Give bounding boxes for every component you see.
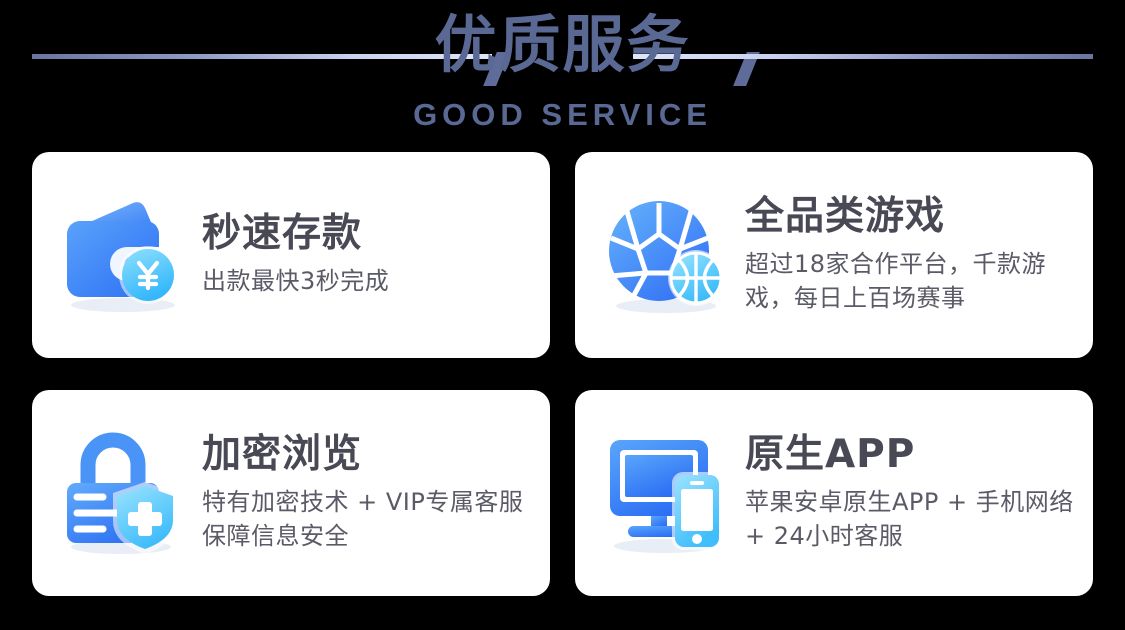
card-description: 出款最快3秒完成 (202, 264, 389, 298)
card-text-block: 全品类游戏 超过18家合作平台，千款游戏，每日上百场赛事 (737, 195, 1077, 315)
feature-card-deposit[interactable]: 秒速存款 出款最快3秒完成 (32, 152, 550, 358)
card-text-block: 秒速存款 出款最快3秒完成 (194, 212, 389, 298)
card-title: 秒速存款 (202, 212, 389, 257)
page-header: 优质服务 GOOD SERVICE (0, 0, 1125, 148)
card-description: 苹果安卓原生APP + 手机网络 + 24小时客服 (745, 485, 1077, 553)
feature-card-games[interactable]: 全品类游戏 超过18家合作平台，千款游戏，每日上百场赛事 (575, 152, 1093, 358)
page-title: 优质服务 (0, 8, 1125, 82)
lock-shield-icon (58, 425, 194, 561)
feature-card-grid: 秒速存款 出款最快3秒完成 (32, 152, 1093, 596)
card-text-block: 加密浏览 特有加密技术 + VIP专属客服保障信息安全 (194, 433, 534, 553)
feature-card-native-app[interactable]: 原生APP 苹果安卓原生APP + 手机网络 + 24小时客服 (575, 390, 1093, 596)
monitor-phone-icon (601, 425, 737, 561)
wallet-yen-icon (58, 187, 194, 323)
soccer-basketball-icon (601, 187, 737, 323)
page-subtitle: GOOD SERVICE (0, 97, 1125, 133)
card-description: 特有加密技术 + VIP专属客服保障信息安全 (202, 485, 534, 553)
card-title: 加密浏览 (202, 433, 534, 478)
feature-card-encryption[interactable]: 加密浏览 特有加密技术 + VIP专属客服保障信息安全 (32, 390, 550, 596)
card-title: 原生APP (745, 433, 1077, 478)
card-description: 超过18家合作平台，千款游戏，每日上百场赛事 (745, 247, 1077, 315)
card-text-block: 原生APP 苹果安卓原生APP + 手机网络 + 24小时客服 (737, 433, 1077, 553)
card-title: 全品类游戏 (745, 195, 1077, 240)
